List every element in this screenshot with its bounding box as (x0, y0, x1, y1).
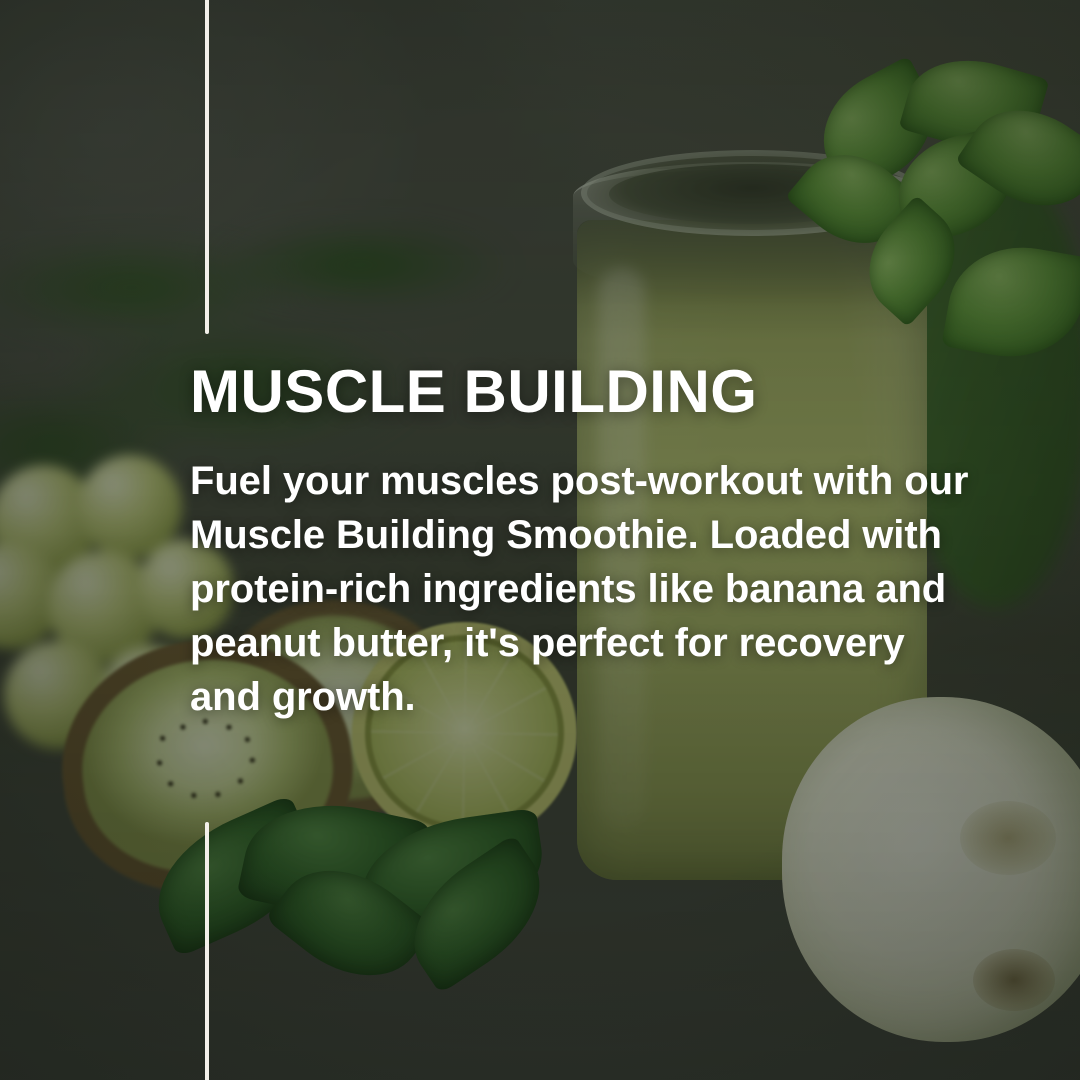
vertical-accent-line-top (205, 0, 209, 334)
body-description: Fuel your muscles post-workout with our … (190, 454, 980, 724)
text-block: MUSCLE BUILDING Fuel your muscles post-w… (190, 360, 990, 724)
page-title: MUSCLE BUILDING (190, 360, 990, 424)
promo-poster: MUSCLE BUILDING Fuel your muscles post-w… (0, 0, 1080, 1080)
vertical-accent-line-bottom (205, 822, 209, 1080)
